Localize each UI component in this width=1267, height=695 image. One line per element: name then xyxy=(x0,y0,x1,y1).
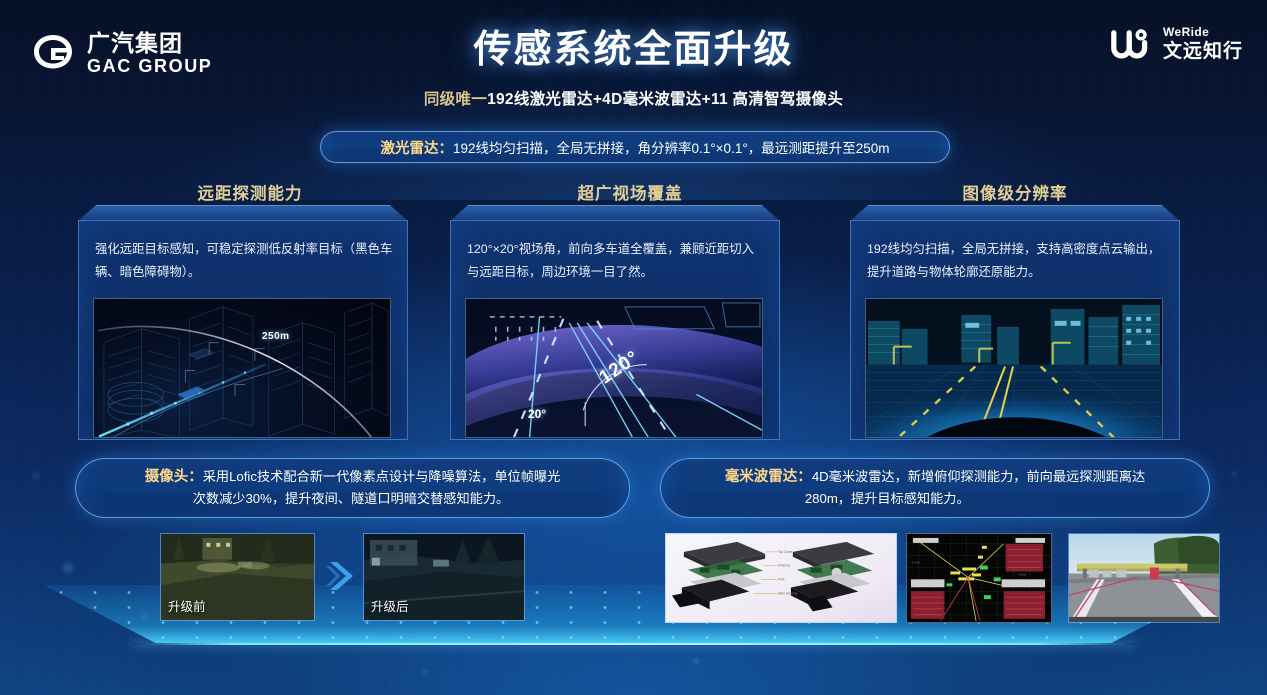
svg-text:Top Cover: Top Cover xyxy=(778,550,792,554)
weride-logo-cn: 文远知行 xyxy=(1163,42,1243,61)
panel-wide-fov: 120°×20°视场角，前向多车道全覆盖，兼顾近距切入与远距目标，周边环境一目了… xyxy=(450,205,780,440)
night-shot-after-label: 升级后 xyxy=(371,596,409,615)
camera-banner: 摄像头：采用Lofic技术配合新一代像素点设计与降噪算法，单位帧曝光 次数减少3… xyxy=(75,458,630,518)
svg-text:-4.0 (M): -4.0 (M) xyxy=(1017,572,1026,576)
highway-scene xyxy=(1069,534,1219,623)
column-heading-long-range: 远距探测能力 xyxy=(120,180,380,204)
bokeh-dot xyxy=(420,668,429,677)
camera-banner-line1: 采用Lofic技术配合新一代像素点设计与降噪算法，单位帧曝光 xyxy=(203,469,561,484)
svg-text:Antenna: Antenna xyxy=(778,564,790,568)
panel-top-face xyxy=(450,205,780,221)
long-range-detection-viz: 250m xyxy=(93,298,391,438)
upgrade-arrow-icon xyxy=(326,558,360,594)
column-heading-resolution: 图像级分辨率 xyxy=(885,180,1145,204)
panel-long-range: 强化远距目标感知，可稳定探测低反射率目标（黑色车辆、暗色障碍物）。 xyxy=(78,205,408,440)
camera-banner-text: 摄像头：采用Lofic技术配合新一代像素点设计与降噪算法，单位帧曝光 次数减少3… xyxy=(145,467,561,509)
viz-background: 250m xyxy=(94,299,390,437)
radar-module-exploded-view: Top Cover Antenna PCB Main Housing xyxy=(665,533,897,623)
range-annotation-250m: 250m xyxy=(262,331,290,342)
page-subtitle: 同级唯一192线激光雷达+4D毫米波雷达+11 高清智驾摄像头 xyxy=(0,87,1267,109)
highway-camera-view xyxy=(1068,533,1220,623)
radar-detection-display: -4.0 (M)-4.0 (M) xyxy=(906,533,1052,623)
svg-text:Main Housing: Main Housing xyxy=(778,591,798,595)
panel-description: 192线均匀扫描，全局无拼接，支持高密度点云输出，提升道路与物体轮廓还原能力。 xyxy=(867,238,1165,284)
fov-annotation-vertical: 20° xyxy=(528,407,546,421)
radar-module-diagram: Top Cover Antenna PCB Main Housing xyxy=(666,534,896,623)
point-cloud-road-viz xyxy=(865,298,1163,438)
radar-banner: 毫米波雷达：4D毫米波雷达，新增俯仰探测能力，前向最远探测距离达 280m，提升… xyxy=(660,458,1210,518)
bokeh-dot xyxy=(30,470,41,481)
panel-image-resolution: 192线均匀扫描，全局无拼接，支持高密度点云输出，提升道路与物体轮廓还原能力。 xyxy=(850,205,1180,440)
weride-logo-en: WeRide xyxy=(1163,26,1243,38)
radar-banner-label: 毫米波雷达： xyxy=(725,469,812,485)
camera-banner-line2: 次数减少30%，提升夜间、隧道口明暗交替感知能力。 xyxy=(145,491,510,506)
radar-plot-graphic: -4.0 (M)-4.0 (M) xyxy=(907,534,1051,623)
svg-text:PCB: PCB xyxy=(778,578,785,582)
bokeh-dot xyxy=(60,560,76,576)
viz-background: 120° 20° xyxy=(466,299,762,437)
column-heading-wide-fov: 超广视场覆盖 xyxy=(500,180,760,204)
night-shot-after: 升级后 xyxy=(363,533,525,621)
viz-background xyxy=(866,299,1162,437)
panel-description: 强化远距目标感知，可稳定探测低反射率目标（黑色车辆、暗色障碍物）。 xyxy=(95,238,393,284)
svg-text:-4.0 (M): -4.0 (M) xyxy=(911,561,920,565)
lidar-banner-body: 192线均匀扫描，全局无拼接，角分辨率0.1°×0.1°，最远测距提升至250m xyxy=(453,141,890,156)
detection-range-arc xyxy=(94,299,390,438)
lidar-banner-label: 激光雷达： xyxy=(380,141,453,157)
subtitle-highlight: 同级唯一 xyxy=(424,91,487,108)
night-shot-before: 升级前 xyxy=(160,533,315,621)
floor-front-edge xyxy=(132,643,1136,645)
panel-description: 120°×20°视场角，前向多车道全覆盖，兼顾近距切入与远距目标，周边环境一目了… xyxy=(467,238,765,284)
lidar-banner-text: 激光雷达：192线均匀扫描，全局无拼接，角分辨率0.1°×0.1°，最远测距提升… xyxy=(380,137,889,158)
weride-logo: WeRide 文远知行 xyxy=(1111,26,1243,61)
radar-banner-line2: 280m，提升目标感知能力。 xyxy=(725,491,970,506)
radar-banner-line1: 4D毫米波雷达，新增俯仰探测能力，前向最远探测距离达 xyxy=(812,469,1145,484)
field-of-view-viz: 120° 20° xyxy=(465,298,763,438)
panel-top-face xyxy=(850,205,1180,221)
lidar-banner: 激光雷达：192线均匀扫描，全局无拼接，角分辨率0.1°×0.1°，最远测距提升… xyxy=(320,131,950,163)
panel-body: 120°×20°视场角，前向多车道全覆盖，兼顾近距切入与远距目标，周边环境一目了… xyxy=(450,220,780,440)
slide-header: 广汽集团 GAC GROUP 传感系统全面升级 同级唯一192线激光雷达+4D毫… xyxy=(0,0,1267,90)
bokeh-dot xyxy=(690,655,702,667)
radar-banner-text: 毫米波雷达：4D毫米波雷达，新增俯仰探测能力，前向最远探测距离达 280m，提升… xyxy=(725,467,1145,509)
title-block: 传感系统全面升级 同级唯一192线激光雷达+4D毫米波雷达+11 高清智驾摄像头 xyxy=(0,18,1267,109)
point-cloud-street xyxy=(866,299,1162,438)
bokeh-dot xyxy=(1230,470,1238,478)
subtitle-rest: 192线激光雷达+4D毫米波雷达+11 高清智驾摄像头 xyxy=(487,91,843,108)
night-shot-before-label: 升级前 xyxy=(168,596,206,615)
panel-top-face xyxy=(78,205,408,221)
weride-logo-icon xyxy=(1111,27,1153,61)
page-title: 传感系统全面升级 xyxy=(0,18,1267,73)
panel-body: 强化远距目标感知，可稳定探测低反射率目标（黑色车辆、暗色障碍物）。 xyxy=(78,220,408,440)
panel-body: 192线均匀扫描，全局无拼接，支持高密度点云输出，提升道路与物体轮廓还原能力。 xyxy=(850,220,1180,440)
camera-banner-label: 摄像头： xyxy=(145,469,203,485)
